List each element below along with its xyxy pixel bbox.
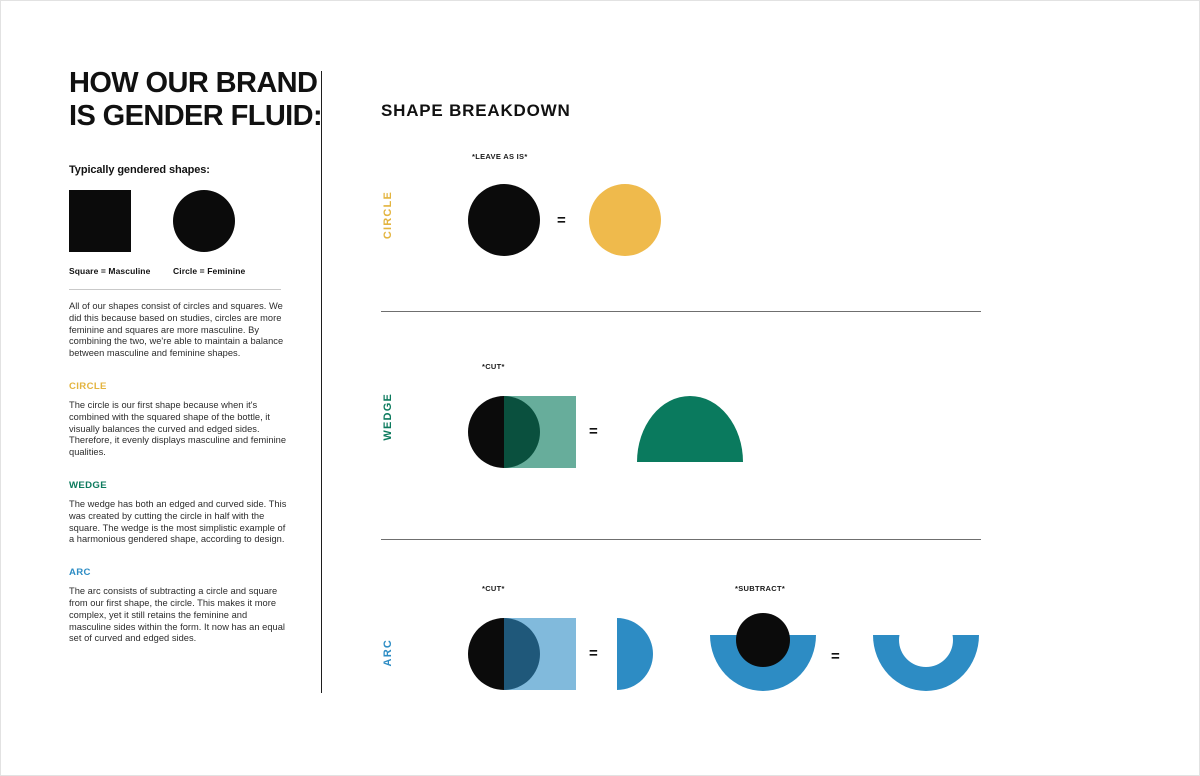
arc-result-half-circle [617,618,653,690]
equals-sign-arc-step-2: = [831,649,840,664]
column-divider [321,71,322,693]
page-title-line-1: HOW OUR BRAND [69,67,287,100]
operation-label-subtract: *SUBTRACT* [735,584,785,593]
brand-guideline-page: HOW OUR BRAND IS GENDER FLUID: Typically… [0,0,1200,776]
section-body-arc: The arc consists of subtracting a circle… [69,586,287,645]
section-heading-wedge: WEDGE [69,480,287,491]
page-title: HOW OUR BRAND IS GENDER FLUID: [69,67,287,133]
gendered-shapes-captions: Square = Masculine Circle = Feminine [69,266,287,276]
intro-paragraph: All of our shapes consist of circles and… [69,301,287,360]
circle-input-black-circle [468,184,540,256]
equals-sign-circle-row: = [557,213,566,228]
section-body-circle: The circle is our first shape because wh… [69,400,287,459]
row-label-wedge: WEDGE [382,393,394,441]
equals-sign-wedge-row: = [589,424,598,439]
subtract-input-black-circle [736,613,790,667]
row-divider-2 [381,539,981,540]
caption-square-masculine: Square = Masculine [69,266,173,276]
square-masculine-shape [69,190,131,252]
wedge-input-green-square [504,396,576,468]
row-divider-1 [381,311,981,312]
row-label-arc: ARC [382,639,394,666]
arc-final-circle-notch [899,613,953,667]
left-column: HOW OUR BRAND IS GENDER FLUID: Typically… [69,67,287,654]
typically-gendered-shapes-label: Typically gendered shapes: [69,164,287,176]
operation-label-cut-wedge: *CUT* [482,362,505,371]
row-label-circle: CIRCLE [382,191,394,239]
right-column: SHAPE BREAKDOWN [381,101,1001,121]
page-title-line-2: IS GENDER FLUID: [69,100,287,133]
gendered-shapes-group [69,190,287,252]
left-column-divider [69,289,281,290]
equals-sign-arc-step-1: = [589,646,598,661]
circle-feminine-shape [173,190,235,252]
section-heading-arc: ARC [69,567,287,578]
operation-label-cut-arc: *CUT* [482,584,505,593]
operation-label-leave-as-is: *LEAVE AS IS* [472,152,528,161]
shape-breakdown-title: SHAPE BREAKDOWN [381,101,1001,121]
section-heading-circle: CIRCLE [69,381,287,392]
arc-input-blue-square [504,618,576,690]
wedge-result-green-dome [637,396,743,462]
caption-circle-feminine: Circle = Feminine [173,266,245,276]
circle-result-gold-circle [589,184,661,256]
section-body-wedge: The wedge has both an edged and curved s… [69,499,287,546]
